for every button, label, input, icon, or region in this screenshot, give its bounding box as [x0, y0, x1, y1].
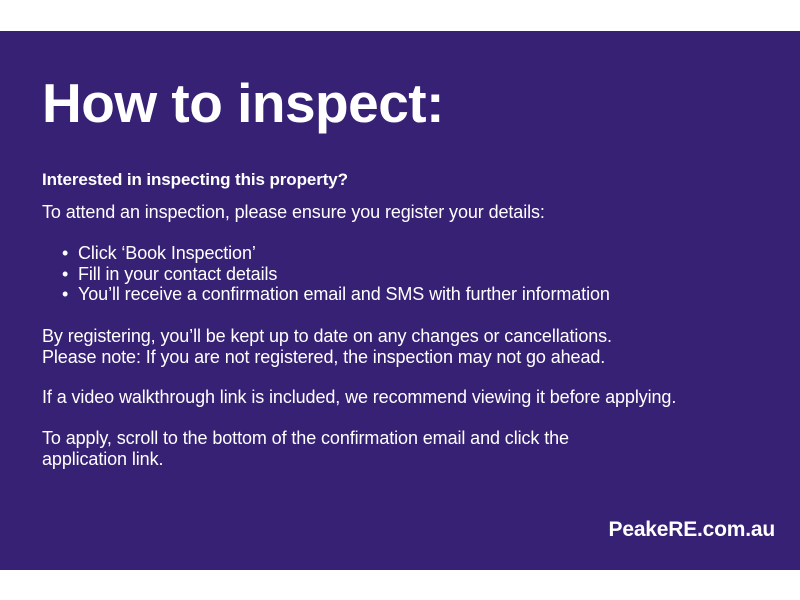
list-item: Fill in your contact details [62, 264, 610, 285]
list-item: You’ll receive a confirmation email and … [62, 284, 610, 305]
list-item: Click ‘Book Inspection’ [62, 243, 610, 264]
footer-website-url: PeakeRE.com.au [609, 518, 775, 542]
apply-instruction: To apply, scroll to the bottom of the co… [42, 428, 569, 470]
purple-content-panel: How to inspect: Interested in inspecting… [0, 31, 800, 570]
lead-instruction: To attend an inspection, please ensure y… [42, 202, 545, 223]
instruction-steps-list: Click ‘Book Inspection’ Fill in your con… [62, 243, 610, 305]
subheading: Interested in inspecting this property? [42, 170, 348, 190]
video-walkthrough-note: If a video walkthrough link is included,… [42, 387, 676, 408]
slide-root: How to inspect: Interested in inspecting… [0, 0, 800, 600]
page-title: How to inspect: [42, 75, 444, 133]
registering-note: By registering, you’ll be kept up to dat… [42, 326, 612, 368]
